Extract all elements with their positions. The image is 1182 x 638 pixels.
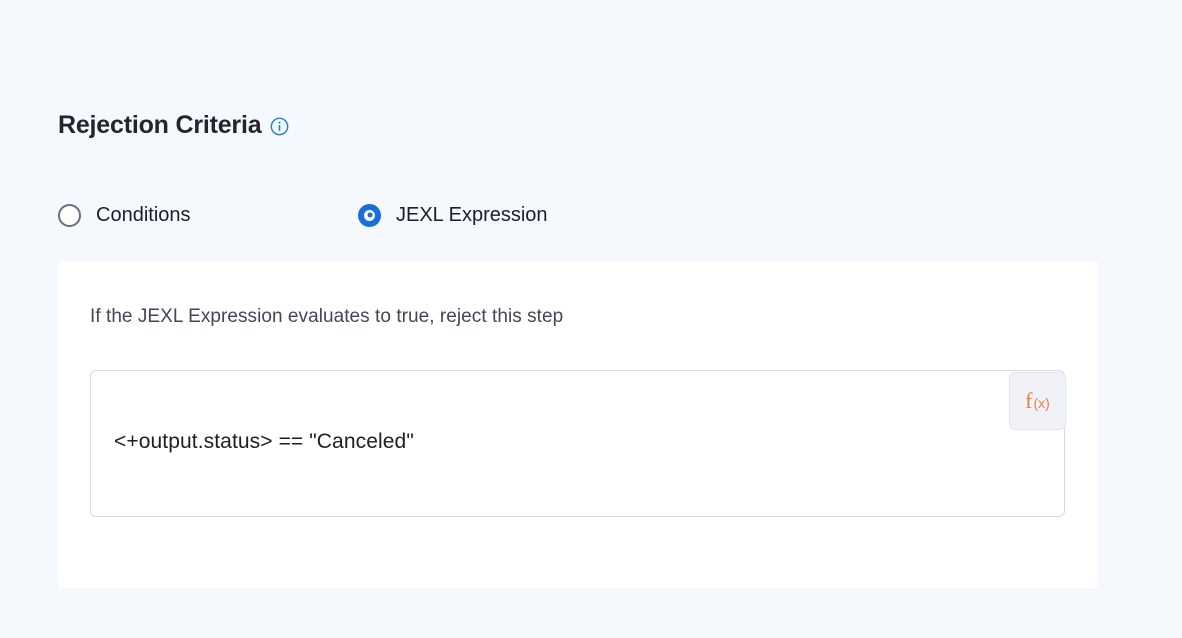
function-fx-icon: f(x)	[1025, 390, 1050, 412]
criteria-type-radio-group: Conditions JEXL Expression	[58, 198, 958, 232]
radio-unselected-icon[interactable]	[58, 204, 81, 227]
radio-label-conditions: Conditions	[96, 198, 191, 232]
fx-button[interactable]: f(x)	[1009, 372, 1066, 430]
expression-editor-wrapper: <+output.status> == "Canceled" f(x)	[90, 370, 1065, 517]
page-title: Rejection Criteria	[58, 108, 261, 142]
radio-selected-icon[interactable]	[358, 204, 381, 227]
radio-option-conditions[interactable]: Conditions	[58, 198, 191, 232]
fx-sub-label: (x)	[1034, 396, 1050, 410]
jexl-expression-value[interactable]: <+output.status> == "Canceled"	[114, 429, 414, 455]
info-icon-wrapper[interactable]	[270, 114, 289, 136]
section-header: Rejection Criteria	[58, 108, 289, 142]
radio-label-jexl-expression: JEXL Expression	[396, 198, 548, 232]
jexl-expression-panel: If the JEXL Expression evaluates to true…	[58, 261, 1098, 588]
info-circle-icon[interactable]	[270, 117, 289, 136]
fx-main-label: f	[1025, 390, 1032, 412]
radio-option-jexl-expression[interactable]: JEXL Expression	[358, 198, 548, 232]
panel-description: If the JEXL Expression evaluates to true…	[90, 306, 563, 328]
jexl-expression-input[interactable]: <+output.status> == "Canceled"	[90, 370, 1065, 517]
